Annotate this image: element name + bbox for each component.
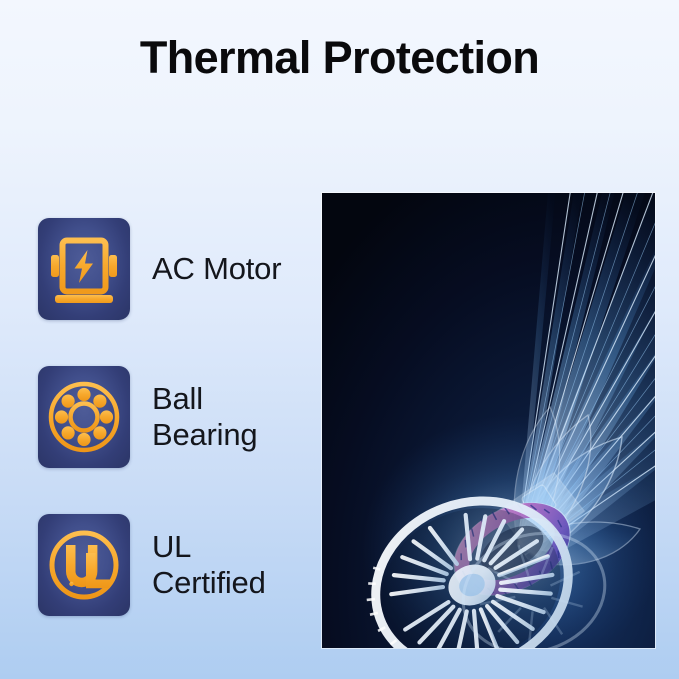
feature-label-ac-motor: AC Motor [152, 251, 281, 287]
fan-motor-cutaway-photo [322, 193, 655, 648]
feature-label-ball-bearing: Ball Bearing [152, 381, 257, 453]
ac-motor-icon [46, 231, 122, 307]
feature-label-ul-certified: UL Certified [152, 529, 266, 601]
feature-list: AC Motor [38, 218, 308, 616]
feature-item-ac-motor: AC Motor [38, 218, 308, 320]
label-line: AC Motor [152, 251, 281, 287]
infographic-page: Thermal Protection [0, 0, 679, 679]
ul-certified-icon [46, 527, 122, 603]
ul-certified-icon-tile [38, 514, 130, 616]
feature-item-ul-certified: UL Certified [38, 514, 308, 616]
ac-motor-icon-tile [38, 218, 130, 320]
label-line: UL [152, 529, 266, 565]
feature-item-ball-bearing: Ball Bearing [38, 366, 308, 468]
label-line: Certified [152, 565, 266, 601]
ball-bearing-icon [46, 379, 122, 455]
label-line: Ball [152, 381, 257, 417]
page-title: Thermal Protection [0, 33, 679, 83]
ball-bearing-icon-tile [38, 366, 130, 468]
label-line: Bearing [152, 417, 257, 453]
